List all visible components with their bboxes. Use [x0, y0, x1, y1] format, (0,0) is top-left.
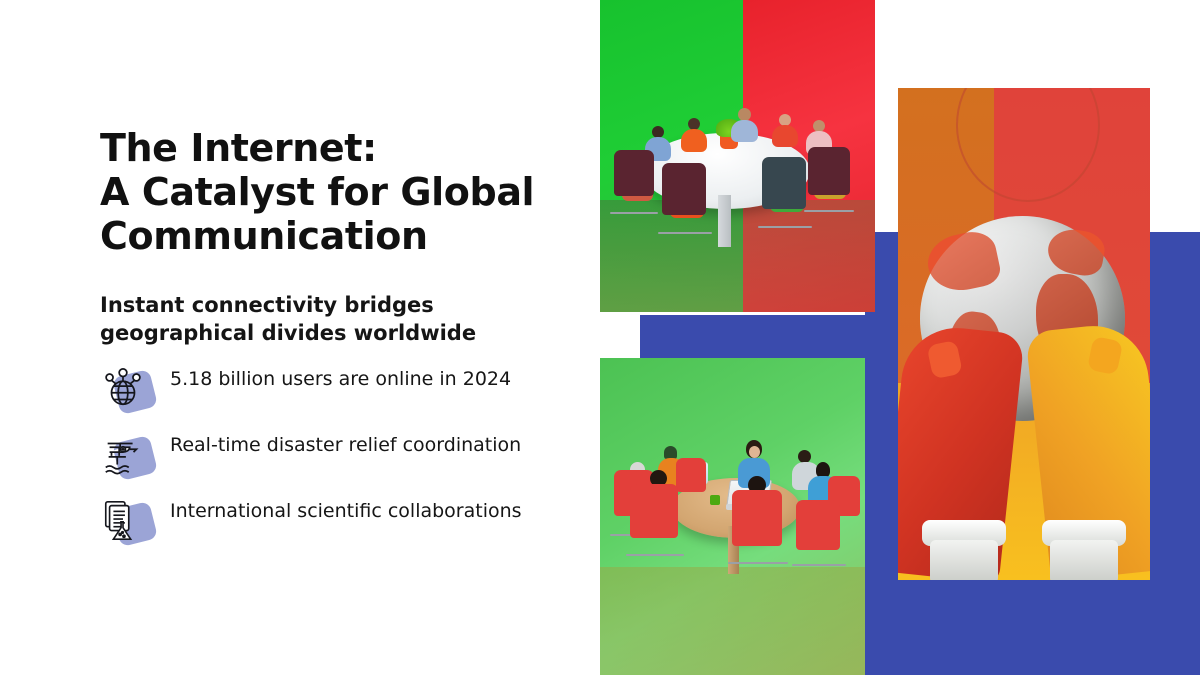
list-item: Real-time disaster relief coordination [100, 431, 555, 483]
text-column: The Internet: A Catalyst for Global Comm… [0, 0, 595, 675]
globe-network-icon [100, 365, 156, 417]
team-meeting-green-photo [600, 358, 865, 675]
hands-holding-globe-photo [898, 88, 1150, 580]
bullet-list: 5.18 billion users are online in 2024 [100, 365, 555, 549]
slide-canvas: The Internet: A Catalyst for Global Comm… [0, 0, 1200, 675]
page-title: The Internet: A Catalyst for Global Comm… [100, 126, 555, 258]
rescue-helicopter-icon [100, 431, 156, 483]
documents-flask-icon [100, 497, 156, 549]
subtitle: Instant connectivity bridges geographica… [100, 292, 550, 347]
list-item-label: Real-time disaster relief coordination [170, 431, 521, 458]
list-item-label: International scientific collaborations [170, 497, 522, 524]
list-item: International scientific collaborations [100, 497, 555, 549]
list-item: 5.18 billion users are online in 2024 [100, 365, 555, 417]
list-item-label: 5.18 billion users are online in 2024 [170, 365, 511, 392]
conference-table-meeting-photo [600, 0, 875, 312]
